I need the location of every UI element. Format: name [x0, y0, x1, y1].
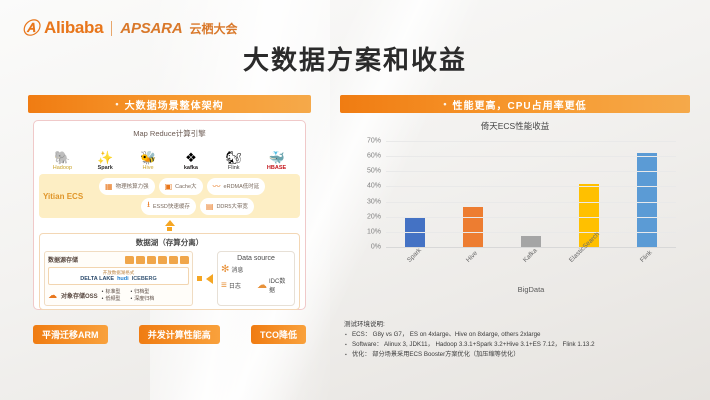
benefit-pills-row: 平滑迁移ARM 并发计算性能高 TCO降低 [33, 325, 306, 344]
chart-bar-spark[interactable] [405, 218, 425, 248]
chart-y-tick-label: 30% [367, 198, 381, 205]
engine-logo-spark: ✨ Spark [84, 151, 126, 171]
bullet-icon: • [115, 99, 119, 109]
yitian-feature-chip: ⭳ ESSD快速缓存 [141, 198, 196, 215]
delta-lake-label: DELTA LAKE [80, 276, 114, 282]
chip-label: ESSD快速缓存 [153, 202, 190, 210]
chip-label: 物理核算力强 [116, 182, 149, 190]
yitian-feature-chip: 〰 eRDMA低时延 [207, 178, 266, 195]
engine-label: Spark [98, 165, 113, 171]
chart-gridline: 60% [386, 156, 676, 157]
chart-y-tick-label: 70% [367, 138, 381, 145]
note-item: Software： Alinux 3, JDK11， Hadoop 3.3.1+… [344, 340, 694, 350]
brand-divider [111, 21, 112, 36]
engine-label: Flink [228, 165, 240, 171]
brand-chinese-text: 云栖大会 [189, 20, 237, 37]
oss-label: 对象存储OSS [61, 291, 98, 300]
engine-label: Hadoop [53, 165, 72, 171]
yitian-feature-chip: ▤ DDR5大带宽 [200, 198, 254, 215]
data-source-item-message: ✻ 消息 [221, 264, 255, 275]
folder-icon [180, 256, 189, 264]
chart-y-tick-label: 40% [367, 183, 381, 190]
chart-gridline: 50% [386, 171, 676, 172]
alibaba-cloud-brand-logo: Ⓐ Alibaba APSARA 云栖大会 [22, 18, 237, 38]
storage-label: 数据源存储 [48, 255, 78, 264]
performance-bar-chart: 0%10%20%30%40%50%60%70% SparkHiveKafkaEl… [352, 136, 682, 296]
item-label: 日志 [229, 281, 241, 290]
hbase-icon: 🐳 [268, 151, 284, 164]
chart-x-tick-label: Hive [465, 250, 479, 264]
engine-label: kafka [184, 165, 198, 171]
test-environment-notes: 测试环境说明: ECS： G8y vs G7， ES on 4xlarge、Hi… [344, 318, 694, 360]
chart-x-tick-label: Flink [639, 249, 654, 264]
engine-logo-flink: 🐿 Flink [213, 151, 255, 171]
chart-y-tick-label: 0% [371, 244, 381, 251]
engine-logo-hbase: 🐳 HBASE [256, 151, 298, 171]
yitian-feature-chip: ▦ 物理核算力强 [99, 178, 155, 195]
mapreduce-title: Map Reduce计算引擎 [39, 128, 300, 139]
chart-x-label-slot: Flink [618, 259, 676, 266]
oss-option: 低频型 [102, 295, 126, 302]
data-lake-title: 数据湖（存算分离） [44, 237, 295, 248]
folder-icon [125, 256, 134, 264]
note-item: ECS： G8y vs G7， ES on 4xlarge、Hive on 8x… [344, 330, 694, 340]
chip-label: DDR5大带宽 [216, 202, 247, 210]
page-title: 大数据方案和收益 [0, 40, 710, 77]
oss-cloud-icon: ☁ [48, 290, 57, 301]
chart-x-axis-title: BigData [386, 285, 676, 294]
ddr5-icon: ▤ [206, 202, 214, 211]
chart-gridline: 30% [386, 202, 676, 203]
chart-plot-area: 0%10%20%30%40%50%60%70% [386, 142, 676, 248]
oss-option: 归档型 [130, 288, 154, 295]
item-label: 消息 [231, 265, 243, 274]
chart-y-tick-label: 60% [367, 153, 381, 160]
data-lake-storage-card: 数据源存储 开放数据湖格式 DELTA LAKE hudi [44, 251, 193, 306]
brand-apsara-text: APSARA [120, 20, 182, 37]
yitian-feature-chip: ▣ Cache大 [159, 178, 203, 195]
iceberg-label: ICEBERG [132, 276, 157, 282]
folder-icon [158, 256, 167, 264]
oss-option: 标准型 [102, 288, 126, 295]
folder-icons-group [125, 256, 189, 264]
flink-icon: 🐿 [225, 151, 242, 164]
chart-y-tick-label: 20% [367, 213, 381, 220]
chip-label: Cache大 [175, 182, 196, 190]
chart-x-label-slot: Hive [444, 259, 502, 266]
folder-icon [136, 256, 145, 264]
right-panel-header-label: 性能更高，CPU占用率更低 [453, 97, 587, 112]
upward-arrow-connector [39, 220, 300, 231]
cpu-core-icon: ▦ [105, 182, 113, 191]
chart-bar-hive[interactable] [463, 207, 483, 248]
hudi-label: hudi [117, 276, 129, 282]
kafka-icon: ❖ [185, 151, 197, 164]
cloud-icon: ☁ [257, 280, 267, 291]
left-panel-header: • 大数据场景整体架构 [28, 95, 311, 113]
item-label: IDC数据 [269, 276, 291, 294]
chart-x-tick-label: Spark [406, 247, 423, 264]
right-panel-header: • 性能更高，CPU占用率更低 [340, 95, 690, 113]
bullet-icon: • [443, 99, 447, 109]
essd-icon: ⭳ [147, 199, 150, 213]
data-lake-block: 数据湖（存算分离） 数据源存储 开放数据湖格式 [39, 233, 300, 310]
spark-icon: ✨ [97, 151, 113, 164]
oss-options-grid: 标准型 归档型 低频型 深度归档 [102, 288, 155, 302]
brand-alibaba-text: Alibaba [44, 18, 103, 38]
chart-y-tick-label: 10% [367, 228, 381, 235]
chart-x-tick-labels: SparkHiveKafkaElasticSearchFlink [386, 259, 676, 266]
alibaba-logo-icon: Ⓐ [22, 20, 39, 37]
chart-x-tick-label: Kafka [522, 247, 539, 264]
message-icon: ✻ [221, 264, 229, 275]
chart-gridline: 40% [386, 186, 676, 187]
left-arrow-stem [197, 276, 202, 281]
chart-gridline: 20% [386, 217, 676, 218]
notes-title: 测试环境说明: [344, 318, 694, 328]
engine-label: Hive [143, 165, 154, 171]
chart-x-label-slot: Spark [386, 259, 444, 266]
benefit-pill-concurrency[interactable]: 并发计算性能高 [139, 325, 220, 344]
architecture-card: Map Reduce计算引擎 🐘 Hadoop ✨ Spark 🐝 Hive ❖… [33, 120, 306, 310]
data-source-item-idc: ☁ IDC数据 [257, 276, 291, 294]
engine-logo-hadoop: 🐘 Hadoop [41, 151, 83, 171]
engine-logo-hive: 🐝 Hive [127, 151, 169, 171]
open-lake-format-box: 开放数据湖格式 DELTA LAKE hudi ICEBERG [48, 267, 189, 285]
chart-gridline: 70% [386, 141, 676, 142]
yitian-ecs-label: Yitian ECS [43, 192, 95, 201]
chip-label: eRDMA低时延 [224, 182, 260, 190]
cache-icon: ▣ [165, 182, 173, 191]
folder-icon [147, 256, 156, 264]
chart-gridline: 0% [386, 247, 676, 248]
chart-bar-flink[interactable] [637, 153, 657, 248]
data-source-item-log: ≡ 日志 [221, 276, 255, 294]
benefit-pill-tco[interactable]: TCO降低 [251, 325, 306, 344]
folder-icon [169, 256, 178, 264]
oss-option: 深度归档 [130, 295, 154, 302]
engine-logo-kafka: ❖ kafka [170, 151, 212, 171]
chart-x-label-slot: ElasticSearch [560, 259, 618, 266]
left-arrow-connector [206, 274, 213, 284]
data-source-spacer [257, 264, 291, 275]
engine-label: HBASE [267, 165, 286, 171]
hive-icon: 🐝 [140, 151, 156, 164]
chart-x-label-slot: Kafka [502, 259, 560, 266]
note-item: 优化： 部分场景采用ECS Booster方案优化（加压缩等优化） [344, 350, 694, 360]
data-source-card: Data source ✻ 消息 ≡ 日志 ☁ IDC数据 [217, 251, 295, 306]
benefit-pill-arm[interactable]: 平滑迁移ARM [33, 325, 108, 344]
left-panel-header-label: 大数据场景整体架构 [125, 97, 224, 112]
log-icon: ≡ [221, 280, 227, 291]
engine-logo-row: 🐘 Hadoop ✨ Spark 🐝 Hive ❖ kafka 🐿 Flink … [39, 141, 300, 171]
chart-gridline: 10% [386, 232, 676, 233]
erdma-icon: 〰 [213, 181, 221, 192]
yitian-ecs-block: Yitian ECS ▦ 物理核算力强 ▣ Cache大 〰 eRDMA低时延 … [39, 174, 300, 218]
data-source-title: Data source [237, 255, 275, 262]
hadoop-icon: 🐘 [54, 151, 70, 164]
chart-title: 倚天ECS性能收益 [340, 120, 690, 132]
chart-y-tick-label: 50% [367, 168, 381, 175]
